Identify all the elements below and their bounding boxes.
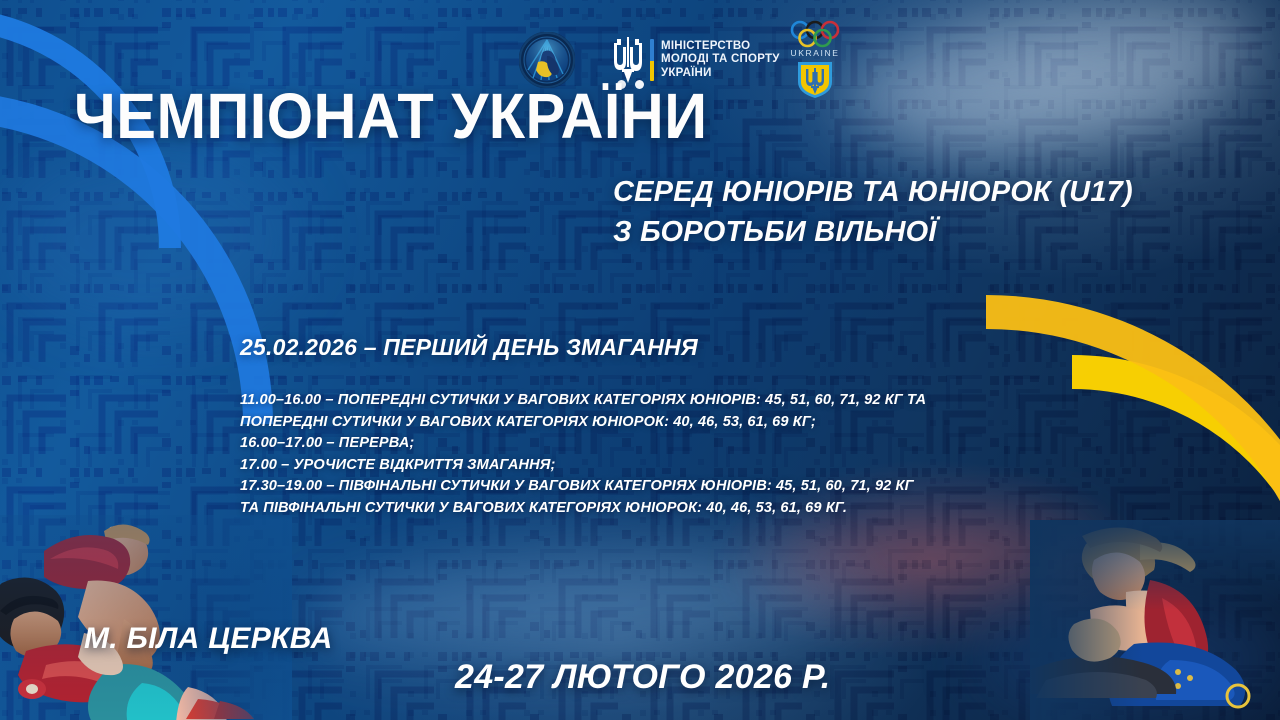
schedule-line: 17.30–19.00 – ПІВФІНАЛЬНІ СУТИЧКИ У ВАГО… <box>240 476 1000 498</box>
schedule-line: ПОПЕРЕДНІ СУТИЧКИ У ВАГОВИХ КАТЕГОРІЯХ Ю… <box>240 412 1000 434</box>
ukraine-trident-icon <box>611 35 645 85</box>
schedule-list: 11.00–16.00 – ПОПЕРЕДНІ СУТИЧКИ У ВАГОВИ… <box>240 390 1000 519</box>
female-wrestlers-photo <box>1030 520 1280 720</box>
dates-label: 24-27 ЛЮТОГО 2026 Р. <box>455 658 831 697</box>
championship-poster: МІНІСТЕРСТВО МОЛОДІ ТА СПОРТУ УКРАЇНИ UK… <box>0 0 1280 720</box>
male-wrestlers-photo <box>0 515 292 720</box>
ministry-line-3: УКРАЇНИ <box>661 67 780 80</box>
schedule-line: 17.00 – УРОЧИСТЕ ВІДКРИТТЯ ЗМАГАННЯ; <box>240 455 1000 477</box>
flag-divider <box>650 39 654 81</box>
ministry-line-1: МІНІСТЕРСТВО <box>661 40 780 53</box>
page-title: ЧЕМПІОНАТ УКРАЇНИ <box>74 84 708 148</box>
city-label: М. БІЛА ЦЕРКВА <box>84 622 333 656</box>
ministry-logo-block: МІНІСТЕРСТВО МОЛОДІ ТА СПОРТУ УКРАЇНИ <box>611 35 780 85</box>
subtitle: СЕРЕД ЮНІОРІВ ТА ЮНІОРОК (U17) З БОРОТЬБ… <box>613 172 1233 252</box>
noc-label: UKRAINE <box>791 48 840 58</box>
schedule-line: 11.00–16.00 – ПОПЕРЕДНІ СУТИЧКИ У ВАГОВИ… <box>240 390 1000 412</box>
ministry-name: МІНІСТЕРСТВО МОЛОДІ ТА СПОРТУ УКРАЇНИ <box>661 40 780 80</box>
ministry-line-2: МОЛОДІ ТА СПОРТУ <box>661 53 780 66</box>
schedule-line: ТА ПІВФІНАЛЬНІ СУТИЧКИ У ВАГОВИХ КАТЕГОР… <box>240 498 1000 520</box>
day-heading: 25.02.2026 – ПЕРШИЙ ДЕНЬ ЗМАГАННЯ <box>240 334 698 361</box>
olympic-committee-logo: UKRAINE <box>772 16 858 98</box>
schedule-line: 16.00–17.00 – ПЕРЕРВА; <box>240 433 1000 455</box>
subtitle-line-1: СЕРЕД ЮНІОРІВ ТА ЮНІОРОК (U17) <box>613 172 1233 212</box>
subtitle-line-2: З БОРОТЬБИ ВІЛЬНОЇ <box>613 212 1233 252</box>
